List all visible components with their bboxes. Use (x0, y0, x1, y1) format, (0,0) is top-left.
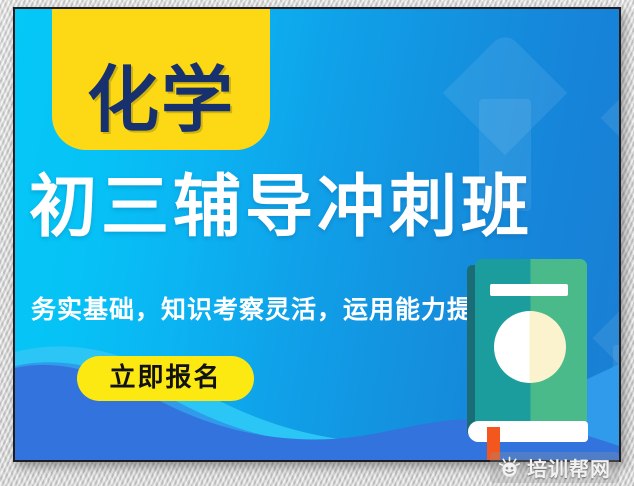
banner-subtitle: 务实基础，知识考察灵活，运用能力提升 (31, 290, 499, 326)
promotional-banner: 化学 初三辅导冲刺班 务实基础，知识考察灵活，运用能力提升 立即报名 (13, 7, 621, 462)
book-cover (475, 259, 587, 427)
enroll-now-button[interactable]: 立即报名 (77, 356, 254, 401)
watermark-label: 培训帮网 (527, 453, 611, 482)
sun-face-icon (498, 456, 521, 479)
book-pages (468, 421, 588, 442)
arrow-head (601, 66, 619, 171)
book-title-bar (490, 284, 568, 296)
subject-badge-label: 化学 (87, 64, 235, 136)
book-illustration (467, 259, 591, 455)
banner-background: 化学 初三辅导冲刺班 务实基础，知识考察灵活，运用能力提升 立即报名 (15, 9, 619, 460)
subject-badge: 化学 (52, 9, 270, 150)
arrow-head (443, 31, 567, 155)
banner-headline: 初三辅导冲刺班 (29, 173, 609, 244)
book-emblem-circle (494, 311, 566, 383)
watermark: 培训帮网 (490, 452, 619, 483)
